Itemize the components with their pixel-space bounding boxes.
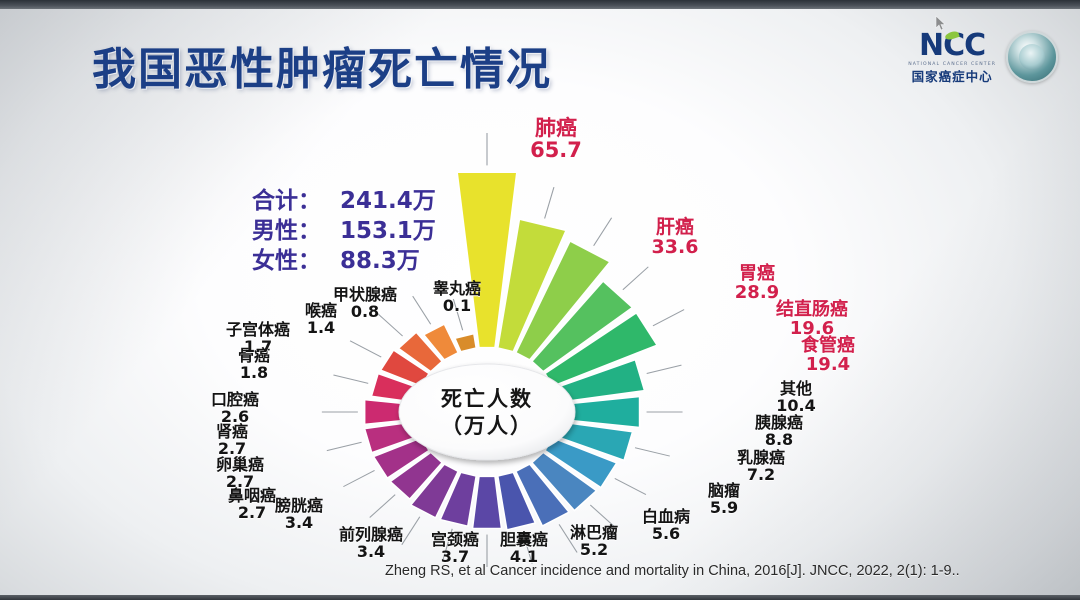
leader-line — [635, 448, 670, 456]
data-label-name: 肝癌 — [585, 217, 765, 237]
presentation-slide: 我国恶性肿瘤死亡情况 NCC NATIONAL CANCER CENTER 国家… — [0, 9, 1080, 595]
video-letterbox-bottom — [0, 595, 1080, 600]
leader-line — [545, 187, 554, 218]
center-label: 死亡人数 （万人） — [399, 364, 575, 460]
leader-line — [653, 310, 684, 326]
data-label: 其他10.4 — [706, 381, 886, 415]
data-label: 前列腺癌3.4 — [281, 527, 461, 561]
data-label-value: 0.1 — [367, 298, 547, 315]
data-label-value: 2.7 — [162, 505, 342, 522]
data-label: 卵巢癌2.7 — [150, 457, 330, 491]
data-label: 食管癌19.4 — [738, 336, 918, 374]
leader-line — [350, 341, 381, 357]
data-label-value: 65.7 — [466, 139, 646, 161]
data-label-value: 1.4 — [231, 320, 411, 337]
data-label-value: 1.8 — [164, 365, 344, 382]
mouse-cursor-icon — [935, 15, 948, 31]
data-label-value: 19.4 — [738, 355, 918, 374]
data-label: 口腔癌2.6 — [145, 392, 325, 426]
data-label-value: 8.8 — [689, 432, 869, 449]
data-label-value: 7.2 — [671, 467, 851, 484]
video-letterbox-top — [0, 0, 1080, 9]
rose-slice[interactable] — [472, 476, 501, 528]
center-label-line2: （万人） — [441, 414, 533, 438]
data-label: 肺癌65.7 — [466, 117, 646, 162]
data-label-name: 食管癌 — [738, 336, 918, 355]
data-label-value: 33.6 — [585, 237, 765, 257]
leader-line — [623, 267, 648, 290]
data-label-value: 2.7 — [142, 441, 322, 458]
rose-slice[interactable] — [455, 334, 476, 352]
citation: Zheng RS, et al Cancer incidence and mor… — [385, 563, 960, 579]
data-label: 睾丸癌0.1 — [367, 281, 547, 315]
data-label: 鼻咽癌2.7 — [162, 488, 342, 522]
data-label: 肾癌2.7 — [142, 424, 322, 458]
data-label-name: 肺癌 — [466, 117, 646, 139]
center-label-line1: 死亡人数 — [441, 387, 533, 411]
data-label-value: 1.7 — [168, 339, 348, 356]
center-oval — [399, 364, 575, 460]
data-label-value: 3.4 — [281, 544, 461, 561]
data-label: 胃癌28.9 — [667, 264, 847, 302]
data-label-name: 结直肠癌 — [722, 300, 902, 319]
leader-line — [647, 365, 682, 373]
data-label-value: 2.6 — [145, 409, 325, 426]
data-label-name: 胃癌 — [667, 264, 847, 283]
data-label: 胰腺癌8.8 — [689, 415, 869, 449]
slide-stage: 我国恶性肿瘤死亡情况 NCC NATIONAL CANCER CENTER 国家… — [0, 0, 1080, 600]
data-label: 结直肠癌19.6 — [722, 300, 902, 338]
leader-line — [343, 470, 374, 486]
data-label-value: 2.7 — [150, 474, 330, 491]
data-label: 肝癌33.6 — [585, 217, 765, 257]
data-label: 乳腺癌7.2 — [671, 450, 851, 484]
leader-line — [327, 442, 362, 450]
